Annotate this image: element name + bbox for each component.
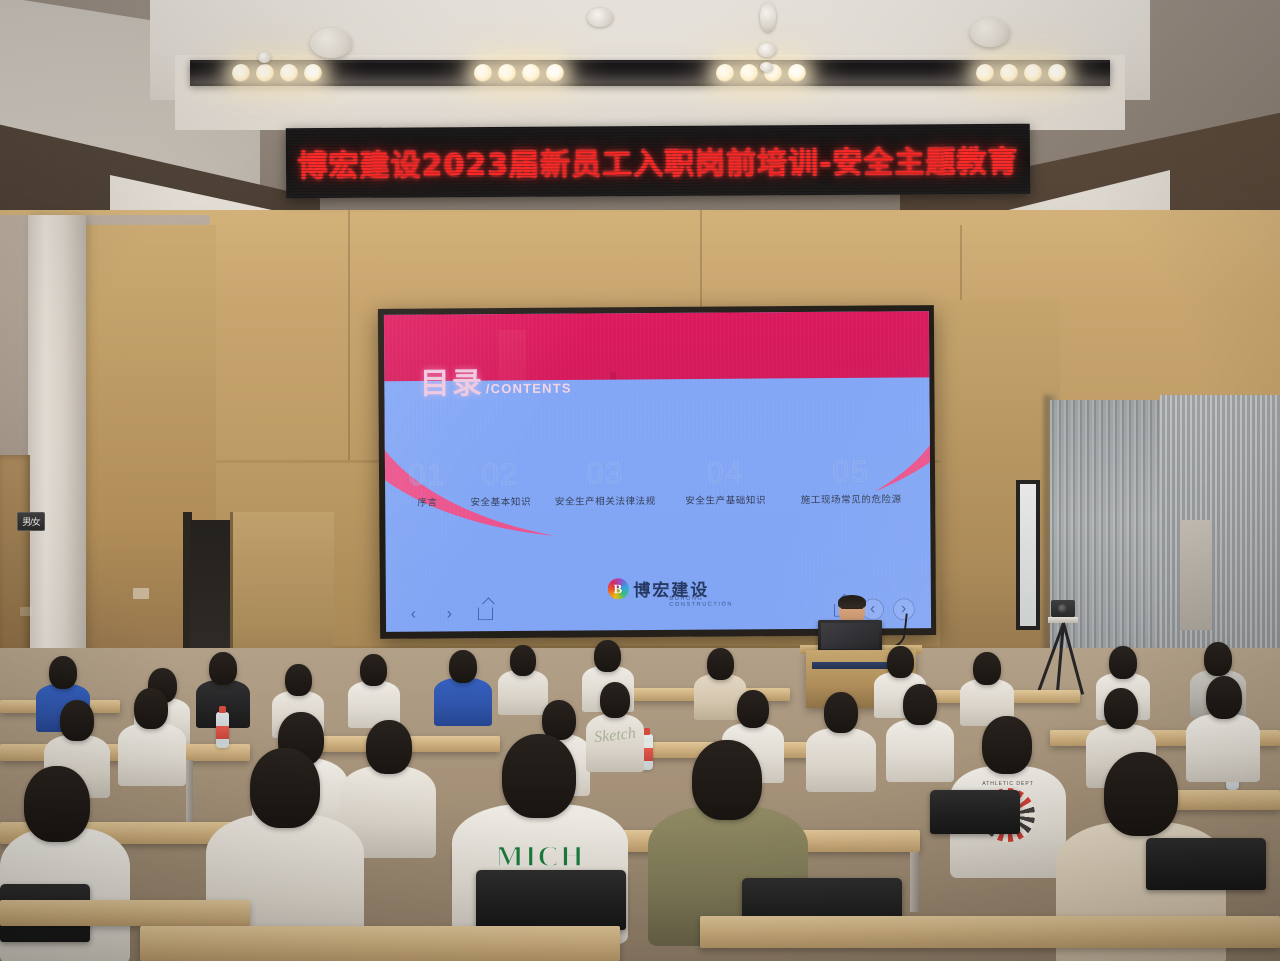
ceiling-speaker-icon [970, 18, 1010, 47]
tripod-leg [1062, 623, 1084, 695]
slide-title: 目录 /CONTENTS [420, 358, 572, 403]
slide-toc-number: 03 [542, 459, 668, 490]
presenter-hair [838, 595, 866, 609]
slide-toc-item[interactable]: 02安全基本知识 [459, 460, 543, 509]
slide-toc-label: 安全生产相关法律法规 [543, 493, 669, 508]
person-head [982, 716, 1032, 774]
person-head [134, 688, 168, 729]
person-head [973, 652, 1001, 685]
led-banner-text: 博宏建设2023届新员工入职岗前培训-安全主题教育 [297, 137, 1018, 185]
light-switch[interactable] [133, 588, 149, 599]
slide-canvas: 目录 /CONTENTS 01序言02安全基本知识03安全生产相关法律法规04安… [384, 311, 931, 632]
person-head [49, 656, 77, 689]
slide-toc-item[interactable]: 01序言 [396, 460, 459, 508]
slide-toc-item[interactable]: 03安全生产相关法律法规 [542, 459, 668, 508]
wall-seam [348, 210, 350, 460]
person-torso [434, 678, 492, 726]
smoke-detector-icon [760, 2, 776, 32]
ceiling-speaker-icon [310, 28, 352, 58]
person-torso [886, 719, 954, 782]
share-icon[interactable] [474, 603, 496, 625]
training-room-photo: 男/女 博宏建设2023届新员工入职岗前培训-安全主题教育 [0, 0, 1280, 961]
chair[interactable] [476, 870, 626, 930]
slide-toc-number: 01 [396, 460, 459, 490]
person-head [285, 664, 312, 696]
desk-leg [186, 760, 193, 824]
chair[interactable] [1146, 838, 1266, 890]
person-head [1104, 688, 1138, 729]
person-head [366, 720, 412, 774]
wall-panel-right [1180, 520, 1212, 630]
person-head [1104, 752, 1178, 836]
camera-tripod [1040, 600, 1086, 696]
person-head [360, 654, 387, 686]
wall-seam [700, 210, 702, 310]
desk-row-foreground [140, 926, 620, 961]
led-banner: 博宏建设2023届新员工入职岗前培训-安全主题教育 [286, 124, 1030, 199]
slide-nav-left[interactable]: ‹ › [402, 603, 496, 626]
person-head [209, 652, 237, 685]
slide-toc-item[interactable]: 05施工现场常见的危险源 [783, 457, 919, 506]
slide-toc-number: 02 [459, 460, 543, 491]
wall-alcove [0, 455, 30, 655]
audience-member [960, 652, 1014, 724]
person-head [60, 700, 94, 741]
person-head [502, 734, 576, 818]
audience-member [886, 684, 954, 780]
water-bottle[interactable] [216, 712, 229, 748]
slide-toc-number: 05 [783, 457, 919, 488]
person-head [1206, 676, 1242, 719]
glasses-icon [841, 608, 863, 613]
tee-caption: ATHLETIC DEPT [982, 781, 1034, 787]
person-head [887, 646, 914, 678]
sprinkler-icon [758, 43, 776, 57]
laptop[interactable] [818, 620, 882, 653]
structural-column [28, 215, 86, 655]
slide-toc-list: 01序言02安全基本知识03安全生产相关法律法规04安全生产基础知识05施工现场… [396, 457, 920, 543]
company-logo-icon [607, 579, 628, 600]
chair[interactable] [930, 790, 1020, 834]
person-head [510, 645, 536, 676]
audience-member [434, 650, 492, 722]
desk-leg [910, 852, 919, 912]
audience-member [348, 654, 400, 726]
desk-row-foreground [0, 900, 250, 926]
person-head [692, 740, 762, 820]
person-head [594, 640, 621, 672]
company-logo-en: BOHONG CONSTRUCTION [669, 596, 733, 608]
slide-toc-number: 04 [668, 458, 783, 489]
slide-title-cn: 目录 [420, 359, 484, 403]
person-head [449, 650, 477, 683]
person-head [824, 692, 858, 733]
person-head [737, 690, 769, 728]
desk-row-foreground [700, 916, 1280, 948]
slide-toc-label: 施工现场常见的危险源 [783, 491, 919, 506]
chevron-left-icon[interactable]: ‹ [402, 603, 424, 625]
slide-toc-label: 安全生产基础知识 [668, 492, 783, 507]
chevron-right-icon[interactable]: › [438, 603, 460, 625]
slide-toc-label: 序言 [396, 494, 459, 508]
audience-member [806, 692, 876, 790]
person-head [600, 682, 630, 718]
person-head [903, 684, 937, 725]
camera-icon [1051, 600, 1075, 617]
person-torso [806, 728, 876, 792]
slide-title-en: /CONTENTS [486, 381, 572, 397]
slide-toc-label: 安全基本知识 [459, 494, 543, 509]
person-head [250, 748, 320, 828]
sprinkler-icon [587, 8, 613, 27]
wall-outlet[interactable] [20, 607, 32, 616]
light-glow [185, 78, 1115, 108]
slide-toc-item[interactable]: 04安全生产基础知识 [668, 458, 783, 507]
projection-screen[interactable]: 目录 /CONTENTS 01序言02安全基本知识03安全生产相关法律法规04安… [378, 305, 936, 639]
sprinkler-icon [258, 52, 271, 63]
person-head [24, 766, 90, 842]
person-head [1109, 646, 1137, 679]
sprinkler-icon [760, 62, 773, 72]
person-head [1204, 642, 1232, 676]
person-head [707, 648, 734, 680]
wall-display-frame [1016, 480, 1040, 630]
restroom-sign: 男/女 [17, 512, 45, 531]
